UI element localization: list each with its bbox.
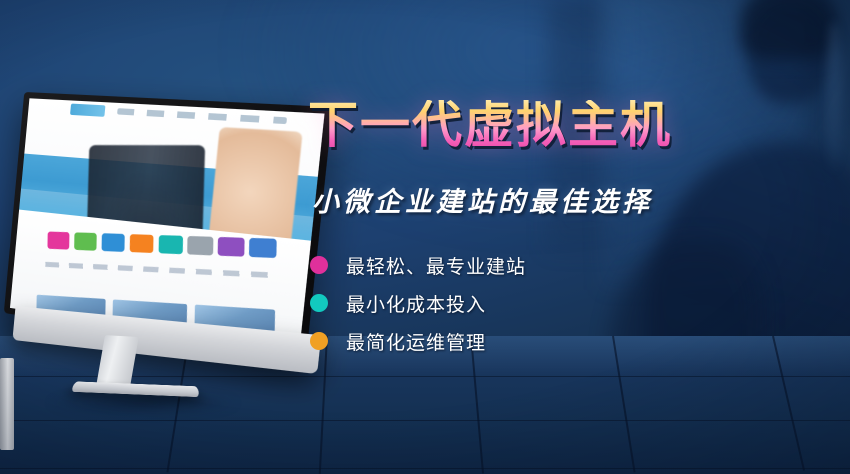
- background-vignette: [0, 0, 850, 474]
- promo-banner: 下一代虚拟主机 小微企业建站的最佳选择 最轻松、最专业建站 最小化成本投入 最简…: [0, 0, 850, 474]
